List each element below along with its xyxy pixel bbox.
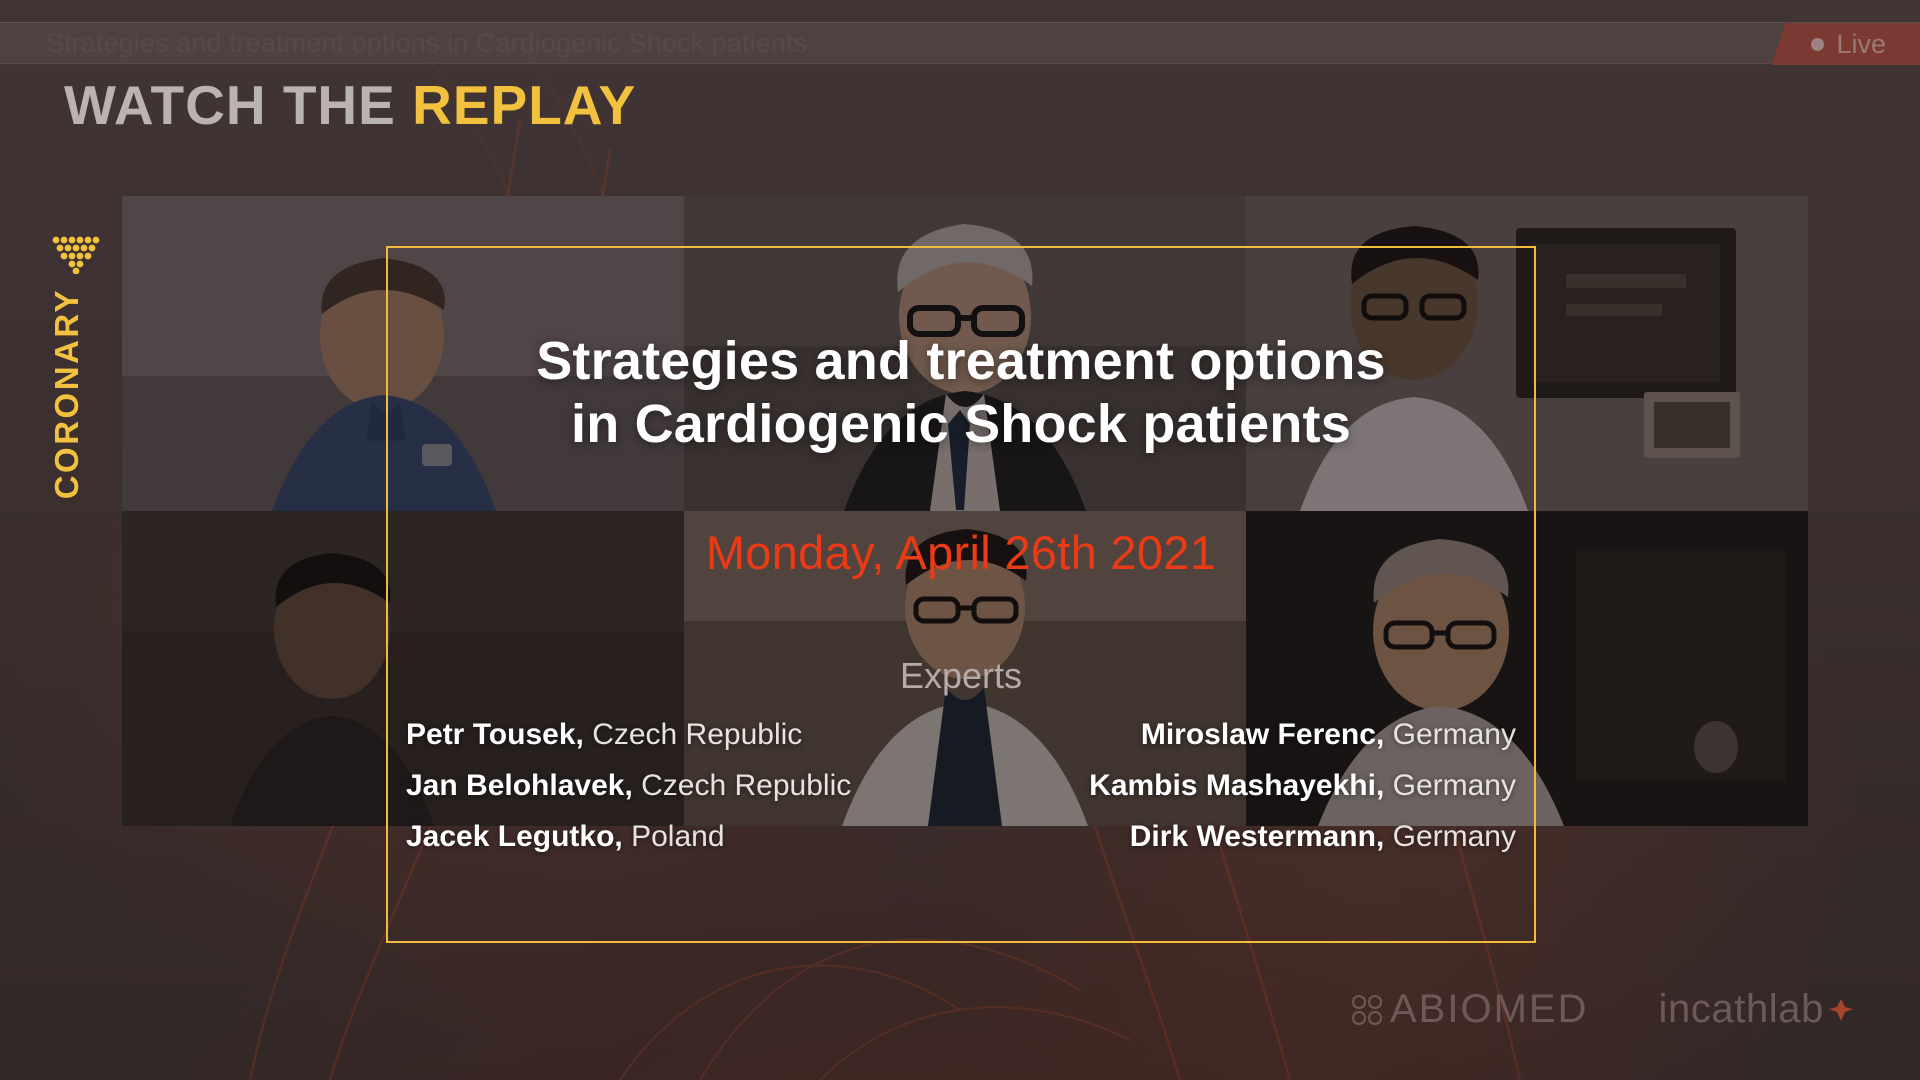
experts-heading: Experts xyxy=(386,655,1536,697)
expert-name: Dirk Westermann, xyxy=(1130,820,1385,853)
live-dot-icon xyxy=(1811,38,1824,51)
list-item: Petr Tousek, Czech Republic xyxy=(406,718,802,751)
expert-country: Poland xyxy=(631,820,724,853)
live-label: Live xyxy=(1836,29,1886,60)
session-title-line-1: Strategies and treatment options xyxy=(386,330,1536,393)
list-item: Jan Belohlavek, Czech Republic xyxy=(406,769,851,802)
expert-country: Germany xyxy=(1393,769,1516,802)
incathlab-logo: incathlab xyxy=(1658,987,1854,1032)
headline-part-1: WATCH THE xyxy=(64,74,396,136)
coronary-rail: CORONARY xyxy=(52,236,100,274)
headline-part-2: REPLAY xyxy=(412,74,636,136)
coronary-label: CORONARY xyxy=(48,288,86,499)
presentation-slide: Strategies and treatment options in Card… xyxy=(0,0,1920,1080)
expert-country: Czech Republic xyxy=(592,718,802,751)
footer-logos: ABIOMED incathlab xyxy=(1350,987,1854,1032)
session-title-line-2: in Cardiogenic Shock patients xyxy=(386,393,1536,456)
abiomed-logo: ABIOMED xyxy=(1350,987,1588,1032)
abiomed-four-circles-icon xyxy=(1350,993,1384,1027)
list-item: Miroslaw Ferenc, Germany xyxy=(1141,718,1516,751)
stream-topbar: Strategies and treatment options in Card… xyxy=(0,22,1920,64)
list-item: Dirk Westermann, Germany xyxy=(1130,820,1516,853)
expert-name: Jacek Legutko, xyxy=(406,820,623,853)
experts-column-left: Petr Tousek, Czech Republic Jan Belohlav… xyxy=(406,718,851,853)
expert-name: Miroslaw Ferenc, xyxy=(1141,718,1384,751)
list-item: Jacek Legutko, Poland xyxy=(406,820,725,853)
incathlab-wordmark: incathlab xyxy=(1658,987,1824,1032)
expert-country: Germany xyxy=(1393,820,1516,853)
incathlab-mark-icon xyxy=(1828,997,1854,1023)
abiomed-wordmark: ABIOMED xyxy=(1390,987,1588,1032)
expert-name: Kambis Mashayekhi, xyxy=(1089,769,1384,802)
stream-title: Strategies and treatment options in Card… xyxy=(46,28,807,59)
expert-country: Czech Republic xyxy=(641,769,851,802)
experts-list: Petr Tousek, Czech Republic Jan Belohlav… xyxy=(386,718,1536,853)
list-item: Kambis Mashayekhi, Germany xyxy=(1089,769,1516,802)
page-title: WATCH THE REPLAY xyxy=(64,73,636,137)
live-badge[interactable]: Live xyxy=(1771,23,1920,65)
coronary-triangle-dots-icon xyxy=(52,236,100,274)
session-title: Strategies and treatment options in Card… xyxy=(386,330,1536,456)
session-date: Monday, April 26th 2021 xyxy=(386,525,1536,580)
expert-country: Germany xyxy=(1393,718,1516,751)
experts-column-right: Miroslaw Ferenc, Germany Kambis Mashayek… xyxy=(1089,718,1516,853)
expert-name: Jan Belohlavek, xyxy=(406,769,633,802)
expert-name: Petr Tousek, xyxy=(406,718,584,751)
